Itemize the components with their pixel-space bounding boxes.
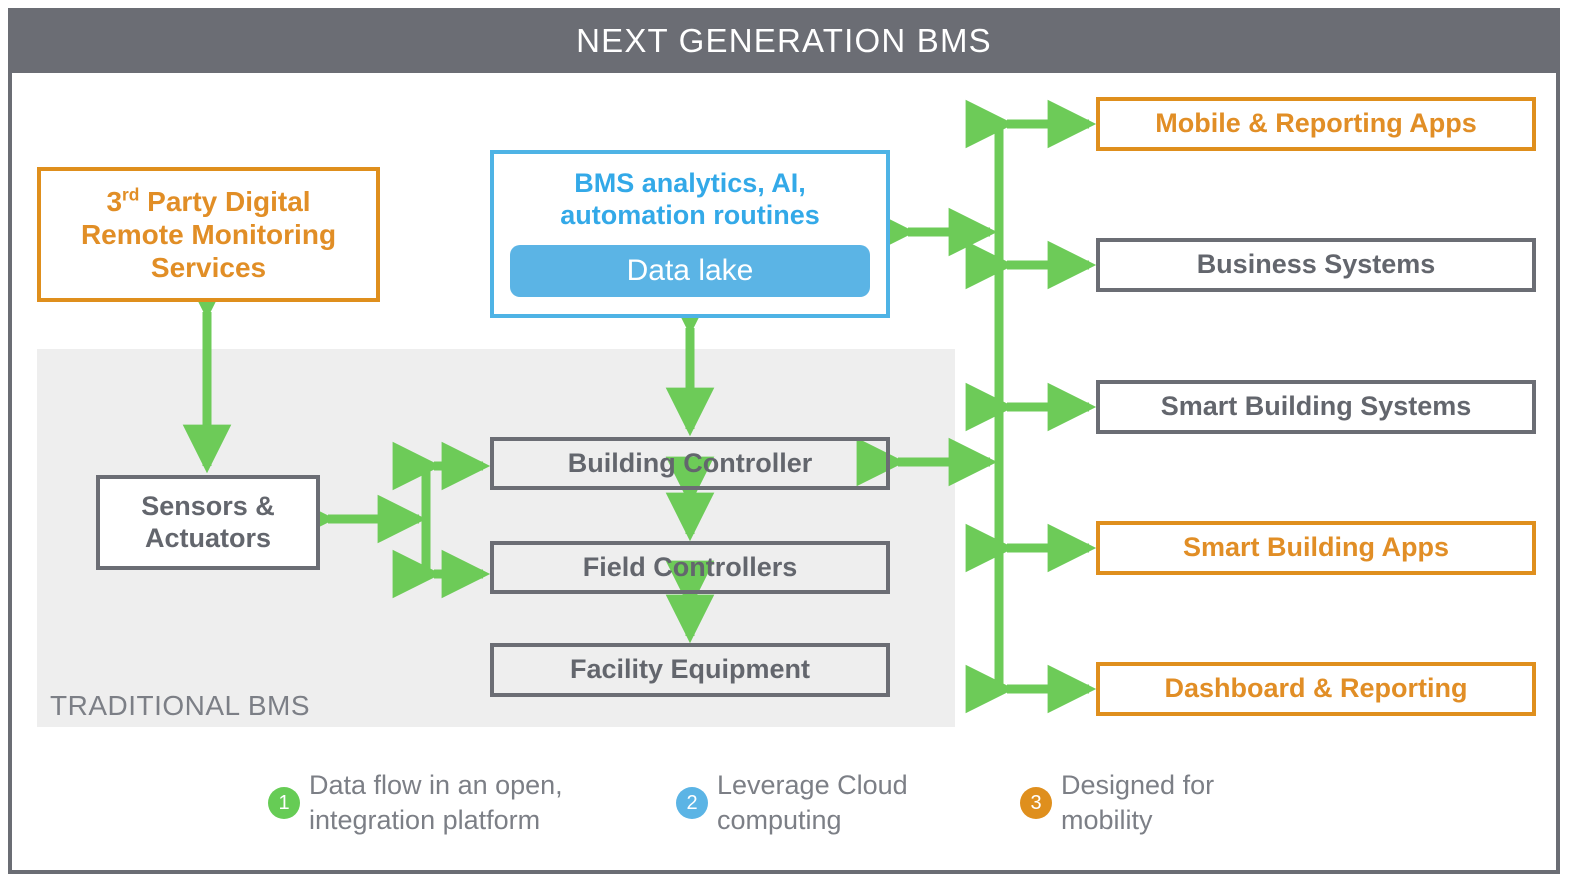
- legend-item-1: 1 Data flow in an open, integ­ration pla…: [268, 768, 563, 837]
- facility-equipment-label: Facility Equipment: [570, 654, 810, 686]
- dashboard-reporting-box[interactable]: Dashboard & Reporting: [1096, 662, 1536, 716]
- field-controllers-box[interactable]: Field Controllers: [490, 541, 890, 594]
- legend: 1 Data flow in an open, integ­ration pla…: [268, 768, 1368, 858]
- smart-building-apps-label: Smart Building Apps: [1183, 532, 1449, 564]
- legend-badge-1: 1: [268, 787, 300, 819]
- business-systems-label: Business Systems: [1197, 249, 1436, 281]
- data-lake-pill[interactable]: Data lake: [510, 245, 870, 297]
- bms-analytics-box[interactable]: BMS analytics, AI, automation routines D…: [490, 150, 890, 318]
- field-controllers-label: Field Controllers: [583, 552, 798, 584]
- traditional-bms-label: TRADITIONAL BMS: [50, 690, 310, 722]
- legend-item-2: 2 Leverage Cloud computing: [676, 768, 908, 837]
- sensors-actuators-box[interactable]: Sensors & Actuators: [96, 475, 320, 570]
- legend-text-2: Leverage Cloud computing: [717, 768, 908, 837]
- page-title: NEXT GENERATION BMS: [576, 22, 992, 60]
- legend-badge-3: 3: [1020, 787, 1052, 819]
- mobile-reporting-apps-box[interactable]: Mobile & Reporting Apps: [1096, 97, 1536, 151]
- legend-text-3: Designed for mobility: [1061, 768, 1214, 837]
- diagram-canvas: NEXT GENERATION BMS TRADITIONAL BMS: [0, 0, 1574, 886]
- building-controller-box[interactable]: Building Controller: [490, 437, 890, 490]
- mobile-reporting-apps-label: Mobile & Reporting Apps: [1155, 108, 1476, 140]
- third-party-services-box[interactable]: 3rd Party Digital Remote Monitoring Serv…: [37, 167, 380, 302]
- legend-text-1: Data flow in an open, integ­ration platf…: [309, 768, 563, 837]
- bms-analytics-title: BMS analytics, AI, automation routines: [554, 168, 826, 232]
- title-bar: NEXT GENERATION BMS: [8, 8, 1560, 73]
- dashboard-reporting-label: Dashboard & Reporting: [1164, 673, 1467, 705]
- legend-item-3: 3 Designed for mobility: [1020, 768, 1214, 837]
- facility-equipment-box[interactable]: Facility Equipment: [490, 643, 890, 697]
- smart-building-systems-label: Smart Building Systems: [1161, 391, 1472, 423]
- sensors-line-1: Sensors &: [141, 491, 275, 523]
- smart-building-systems-box[interactable]: Smart Building Systems: [1096, 380, 1536, 434]
- building-controller-label: Building Controller: [568, 448, 812, 480]
- business-systems-box[interactable]: Business Systems: [1096, 238, 1536, 292]
- smart-building-apps-box[interactable]: Smart Building Apps: [1096, 521, 1536, 575]
- sensors-line-2: Actuators: [145, 523, 271, 555]
- ordinal-suffix: rd: [122, 185, 139, 205]
- third-party-services-label: 3rd Party Digital Remote Monitoring Serv…: [81, 185, 336, 284]
- legend-badge-2: 2: [676, 787, 708, 819]
